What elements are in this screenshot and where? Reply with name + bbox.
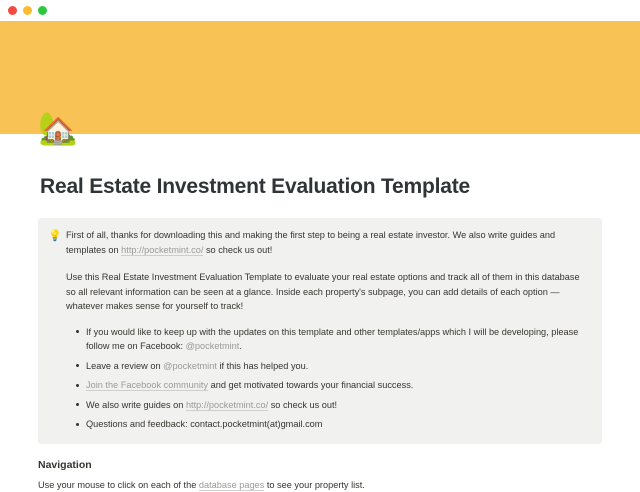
- list-item: If you would like to keep up with the up…: [86, 325, 590, 354]
- close-window-icon[interactable]: [8, 6, 17, 15]
- maximize-window-icon[interactable]: [38, 6, 47, 15]
- database-pages-link[interactable]: database pages: [199, 480, 264, 491]
- minimize-window-icon[interactable]: [23, 6, 32, 15]
- window-titlebar: [0, 0, 640, 21]
- page-icon-house-emoji[interactable]: 🏡: [38, 111, 74, 147]
- bullet-1-text-after: .: [239, 341, 242, 351]
- pocketmint-link[interactable]: http://pocketmint.co/: [121, 245, 203, 256]
- callout-block: 💡 First of all, thanks for downloading t…: [38, 218, 602, 444]
- list-item: Leave a review on @pocketmint if this ha…: [86, 359, 590, 374]
- bullet-2-text-before: Leave a review on: [86, 361, 163, 371]
- bullet-5-text: Questions and feedback: contact.pocketmi…: [86, 419, 322, 429]
- bullet-3-text-after: and get motivated towards your financial…: [208, 380, 413, 390]
- navigation-text-before: Use your mouse to click on each of the: [38, 480, 199, 490]
- list-item: Join the Facebook community and get moti…: [86, 378, 590, 393]
- pocketmint-mention[interactable]: @pocketmint: [186, 341, 240, 351]
- pocketmint-mention[interactable]: @pocketmint: [163, 361, 217, 371]
- window-controls: [8, 6, 47, 15]
- navigation-text-after: to see your property list.: [264, 480, 365, 490]
- callout-bullet-list: If you would like to keep up with the up…: [66, 325, 590, 432]
- page-title: Real Estate Investment Evaluation Templa…: [0, 134, 640, 200]
- facebook-community-link[interactable]: Join the Facebook community: [86, 380, 208, 391]
- callout-paragraph-1: First of all, thanks for downloading thi…: [66, 228, 590, 257]
- navigation-heading: Navigation: [38, 458, 602, 473]
- bullet-4-text-after: so check us out!: [268, 400, 337, 410]
- pocketmint-link[interactable]: http://pocketmint.co/: [186, 400, 268, 411]
- list-item: Questions and feedback: contact.pocketmi…: [86, 417, 590, 432]
- navigation-description: Use your mouse to click on each of the d…: [38, 478, 602, 492]
- page-content: 🏡 Real Estate Investment Evaluation Temp…: [0, 134, 640, 492]
- callout-paragraph-2: Use this Real Estate Investment Evaluati…: [66, 270, 590, 314]
- bullet-2-text-after: if this has helped you.: [217, 361, 308, 371]
- callout-p1-text-after: so check us out!: [203, 245, 272, 255]
- bullet-4-text-before: We also write guides on: [86, 400, 186, 410]
- bullet-1-text-before: If you would like to keep up with the up…: [86, 327, 578, 352]
- page-cover-image[interactable]: [0, 21, 640, 134]
- lightbulb-icon: 💡: [48, 228, 66, 244]
- callout-body: First of all, thanks for downloading thi…: [66, 228, 590, 432]
